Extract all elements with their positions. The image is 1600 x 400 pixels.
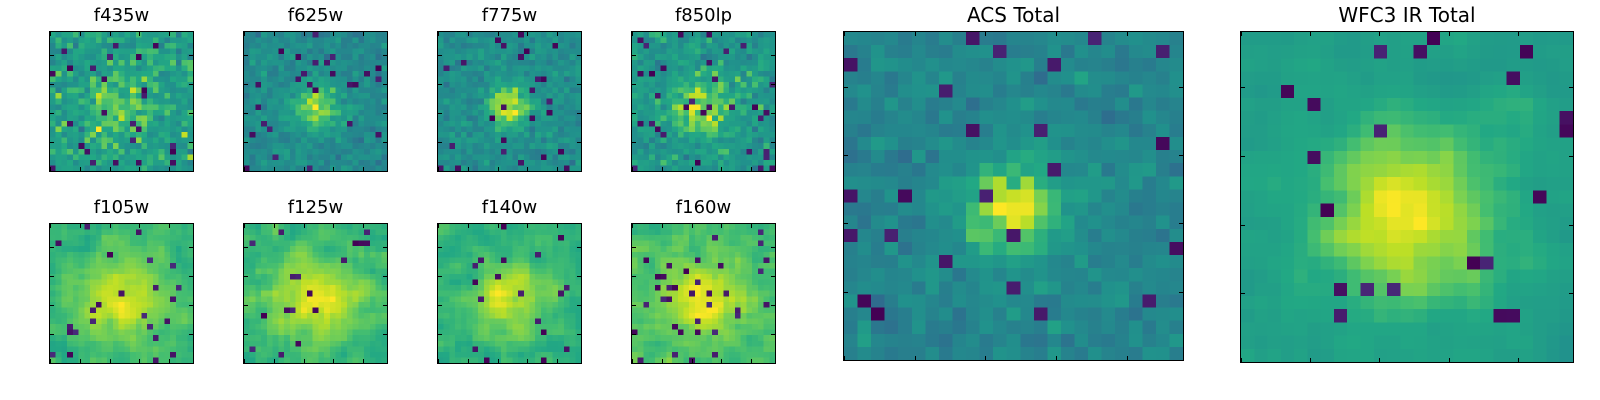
axis-tick-mark [244,334,248,335]
axis-tick-mark [383,142,387,143]
axis-tick-mark [244,142,248,143]
axis-tick-mark [721,224,722,228]
axis-tick-mark [1056,32,1057,36]
panel-f105w: f105w0510152005101520 [49,223,194,364]
axis-tick-mark [771,305,775,306]
axis-tick-mark [383,84,387,85]
axis-tick-mark [577,276,581,277]
axis-tick-mark [50,84,54,85]
axis-tick-mark [383,363,387,364]
axis-tick-mark [244,113,248,114]
axis-tick-mark [438,32,439,36]
axis-tick-mark [139,359,140,363]
axis-tick-mark [80,32,81,36]
heatmap-image-f775w [438,32,581,171]
axis-tick-mark [662,224,663,228]
axis-tick-mark [189,55,193,56]
axis-tick-mark [438,84,442,85]
axis-tick-mark [1179,223,1183,224]
panel-title-acs_total: ACS Total [843,5,1184,25]
axis-tick-mark [244,363,248,364]
axis-tick-mark [721,359,722,363]
axis-tick-mark [632,276,636,277]
axis-tick-mark [80,359,81,363]
axis-tick-mark [1449,358,1450,362]
panel-title-f775w: f775w [437,7,582,25]
panel-f775w: f775w0510152005101520 [437,31,582,172]
axis-tick-mark [50,276,54,277]
axis-tick-mark [1379,32,1380,36]
axis-tick-mark [632,32,633,36]
axis-tick-mark [577,84,581,85]
panel-title-f625w: f625w [243,7,388,25]
axis-tick-mark [527,359,528,363]
axis-tick-mark [50,247,54,248]
axis-tick-mark [751,359,752,363]
axis-tick-mark [189,84,193,85]
axis-tick-mark [189,276,193,277]
axis-tick-mark [189,334,193,335]
axis-tick-mark [527,167,528,171]
axis-tick-mark [1310,358,1311,362]
axis-tick-mark [662,359,663,363]
axis-tick-mark [1179,292,1183,293]
panel-f625w: f625w0510152005101520 [243,31,388,172]
axis-tick-mark [50,334,54,335]
axis-tick-mark [189,142,193,143]
axis-tick-mark [274,167,275,171]
axis-tick-mark [1569,225,1573,226]
axis-tick-mark [721,32,722,36]
axis-tick-mark [383,305,387,306]
axis-tick-mark [274,32,275,36]
axis-tick-mark [577,113,581,114]
axis-tick-mark [577,305,581,306]
axis-tick-mark [438,305,442,306]
axis-tick-mark [1518,358,1519,362]
axis-tick-mark [50,142,54,143]
axis-tick-mark [844,155,848,156]
axis-tick-mark [383,247,387,248]
heatmap-image-acs_total [844,32,1183,360]
axis-tick-mark [110,359,111,363]
axis-tick-mark [632,171,636,172]
axis-tick-mark [139,224,140,228]
axis-tick-mark [557,359,558,363]
axis-tick-mark [1379,358,1380,362]
heatmap-image-f160w [632,224,775,363]
axis-tick-mark [468,32,469,36]
axis-tick-mark [244,305,248,306]
axis-tick-mark [632,55,636,56]
axis-tick-mark [721,167,722,171]
panel-f850lp: f850lp0510152005101520 [631,31,776,172]
axis-tick-mark [304,167,305,171]
axis-tick-mark [577,171,581,172]
axis-tick-mark [844,87,848,88]
axis-tick-mark [189,363,193,364]
axis-tick-mark [1241,32,1242,36]
axis-tick-mark [438,334,442,335]
image-axes-f160w[interactable]: 0510152005101520 [631,223,776,364]
axis-tick-mark [383,113,387,114]
axis-tick-mark [139,32,140,36]
axis-tick-mark [632,113,636,114]
axis-tick-mark [632,84,636,85]
axis-tick-mark [692,224,693,228]
axis-tick-mark [50,305,54,306]
axis-tick-mark [169,32,170,36]
axis-tick-mark [498,167,499,171]
axis-tick-mark [498,224,499,228]
image-axes-f140w[interactable]: 0510152005101520 [437,223,582,364]
image-axes-f125w[interactable]: 0510152005101520 [243,223,388,364]
axis-tick-mark [304,32,305,36]
heatmap-image-wfc3_total [1241,32,1573,362]
axis-tick-mark [632,142,636,143]
axis-tick-mark [189,113,193,114]
image-axes-f775w[interactable]: 0510152005101520 [437,31,582,172]
axis-tick-mark [771,84,775,85]
axis-tick-mark [244,32,245,36]
axis-tick-mark [244,84,248,85]
axis-tick-mark [438,55,442,56]
axis-tick-mark [438,363,442,364]
axis-tick-mark [304,359,305,363]
axis-tick-mark [1449,32,1450,36]
axis-tick-mark [189,247,193,248]
axis-tick-mark [244,224,245,228]
axis-tick-mark [383,171,387,172]
axis-tick-mark [50,55,54,56]
panel-title-f160w: f160w [631,199,776,217]
panel-f140w: f140w0510152005101520 [437,223,582,364]
axis-tick-mark [692,32,693,36]
axis-tick-mark [363,167,364,171]
image-axes-wfc3_total[interactable]: 0510152005101520 [1240,31,1574,363]
panel-title-wfc3_total: WFC3 IR Total [1240,5,1574,25]
axis-tick-mark [844,360,848,361]
axis-tick-mark [1310,32,1311,36]
axis-tick-mark [50,113,54,114]
axis-tick-mark [50,224,51,228]
axis-tick-mark [1569,87,1573,88]
axis-tick-mark [50,171,54,172]
axis-tick-mark [771,276,775,277]
axis-tick-mark [438,113,442,114]
axis-tick-mark [1179,87,1183,88]
axis-tick-mark [244,55,248,56]
axis-tick-mark [363,224,364,228]
axis-tick-mark [577,55,581,56]
axis-tick-mark [1127,32,1128,36]
axis-tick-mark [468,167,469,171]
axis-tick-mark [915,356,916,360]
axis-tick-mark [662,167,663,171]
heatmap-image-f125w [244,224,387,363]
axis-tick-mark [632,247,636,248]
axis-tick-mark [844,32,845,36]
heatmap-image-f105w [50,224,193,363]
axis-tick-mark [244,276,248,277]
panel-f125w: f125w0510152005101520 [243,223,388,364]
axis-tick-mark [274,224,275,228]
axis-tick-mark [438,247,442,248]
axis-tick-mark [1569,156,1573,157]
panel-f435w: f435w0510152005101520 [49,31,194,172]
axis-tick-mark [110,224,111,228]
heatmap-image-f625w [244,32,387,171]
axis-tick-mark [751,167,752,171]
axis-tick-mark [244,247,248,248]
axis-tick-mark [557,32,558,36]
axis-tick-mark [498,32,499,36]
axis-tick-mark [1241,87,1245,88]
heatmap-image-f140w [438,224,581,363]
axis-tick-mark [169,359,170,363]
axis-tick-mark [274,359,275,363]
axis-tick-mark [169,224,170,228]
axis-tick-mark [1569,362,1573,363]
image-axes-f625w[interactable]: 0510152005101520 [243,31,388,172]
axis-tick-mark [771,142,775,143]
panel-title-f435w: f435w [49,7,194,25]
axis-tick-mark [333,32,334,36]
axis-tick-mark [1179,360,1183,361]
axis-tick-mark [751,224,752,228]
axis-tick-mark [333,167,334,171]
axis-tick-mark [333,224,334,228]
axis-tick-mark [915,32,916,36]
image-axes-f850lp[interactable]: 0510152005101520 [631,31,776,172]
axis-tick-mark [577,247,581,248]
axis-tick-mark [50,363,54,364]
axis-tick-mark [985,32,986,36]
axis-tick-mark [1179,155,1183,156]
axis-tick-mark [244,171,248,172]
panel-title-f125w: f125w [243,199,388,217]
image-axes-f105w[interactable]: 0510152005101520 [49,223,194,364]
axis-tick-mark [438,276,442,277]
axis-tick-mark [1241,156,1245,157]
axis-tick-mark [1241,225,1245,226]
heatmap-image-f435w [50,32,193,171]
axis-tick-mark [577,363,581,364]
axis-tick-mark [1518,32,1519,36]
axis-tick-mark [363,32,364,36]
axis-tick-mark [189,305,193,306]
axis-tick-mark [692,167,693,171]
axis-tick-mark [985,356,986,360]
axis-tick-mark [577,334,581,335]
axis-tick-mark [1241,293,1245,294]
axis-tick-mark [80,224,81,228]
heatmap-image-f850lp [632,32,775,171]
axis-tick-mark [304,224,305,228]
axis-tick-mark [632,334,636,335]
axis-tick-mark [383,334,387,335]
axis-tick-mark [527,224,528,228]
axis-tick-mark [498,359,499,363]
axis-tick-mark [139,167,140,171]
axis-tick-mark [844,223,848,224]
axis-tick-mark [557,167,558,171]
panel-wfc3_total: WFC3 IR Total0510152005101520 [1240,31,1574,363]
axis-tick-mark [662,32,663,36]
panel-acs_total: ACS Total0510152005101520 [843,31,1184,361]
panel-title-f140w: f140w [437,199,582,217]
image-axes-f435w[interactable]: 0510152005101520 [49,31,194,172]
axis-tick-mark [1241,362,1245,363]
panel-title-f850lp: f850lp [631,7,776,25]
axis-tick-mark [468,359,469,363]
figure-canvas: f435w0510152005101520f625w05101520051015… [0,0,1600,400]
axis-tick-mark [80,167,81,171]
panel-f160w: f160w0510152005101520 [631,223,776,364]
axis-tick-mark [468,224,469,228]
axis-tick-mark [632,363,636,364]
axis-tick-mark [771,55,775,56]
axis-tick-mark [751,32,752,36]
axis-tick-mark [771,363,775,364]
axis-tick-mark [527,32,528,36]
panel-title-f105w: f105w [49,199,194,217]
axis-tick-mark [383,55,387,56]
axis-tick-mark [1056,356,1057,360]
axis-tick-mark [1127,356,1128,360]
axis-tick-mark [632,305,636,306]
axis-tick-mark [771,334,775,335]
axis-tick-mark [50,32,51,36]
axis-tick-mark [632,224,633,228]
axis-tick-mark [692,359,693,363]
axis-tick-mark [771,247,775,248]
axis-tick-mark [189,171,193,172]
axis-tick-mark [333,359,334,363]
axis-tick-mark [169,167,170,171]
axis-tick-mark [844,292,848,293]
axis-tick-mark [363,359,364,363]
axis-tick-mark [438,224,439,228]
axis-tick-mark [383,276,387,277]
axis-tick-mark [110,32,111,36]
axis-tick-mark [110,167,111,171]
axis-tick-mark [438,171,442,172]
axis-tick-mark [577,142,581,143]
axis-tick-mark [771,113,775,114]
axis-tick-mark [438,142,442,143]
axis-tick-mark [557,224,558,228]
image-axes-acs_total[interactable]: 0510152005101520 [843,31,1184,361]
axis-tick-mark [1569,293,1573,294]
axis-tick-mark [771,171,775,172]
